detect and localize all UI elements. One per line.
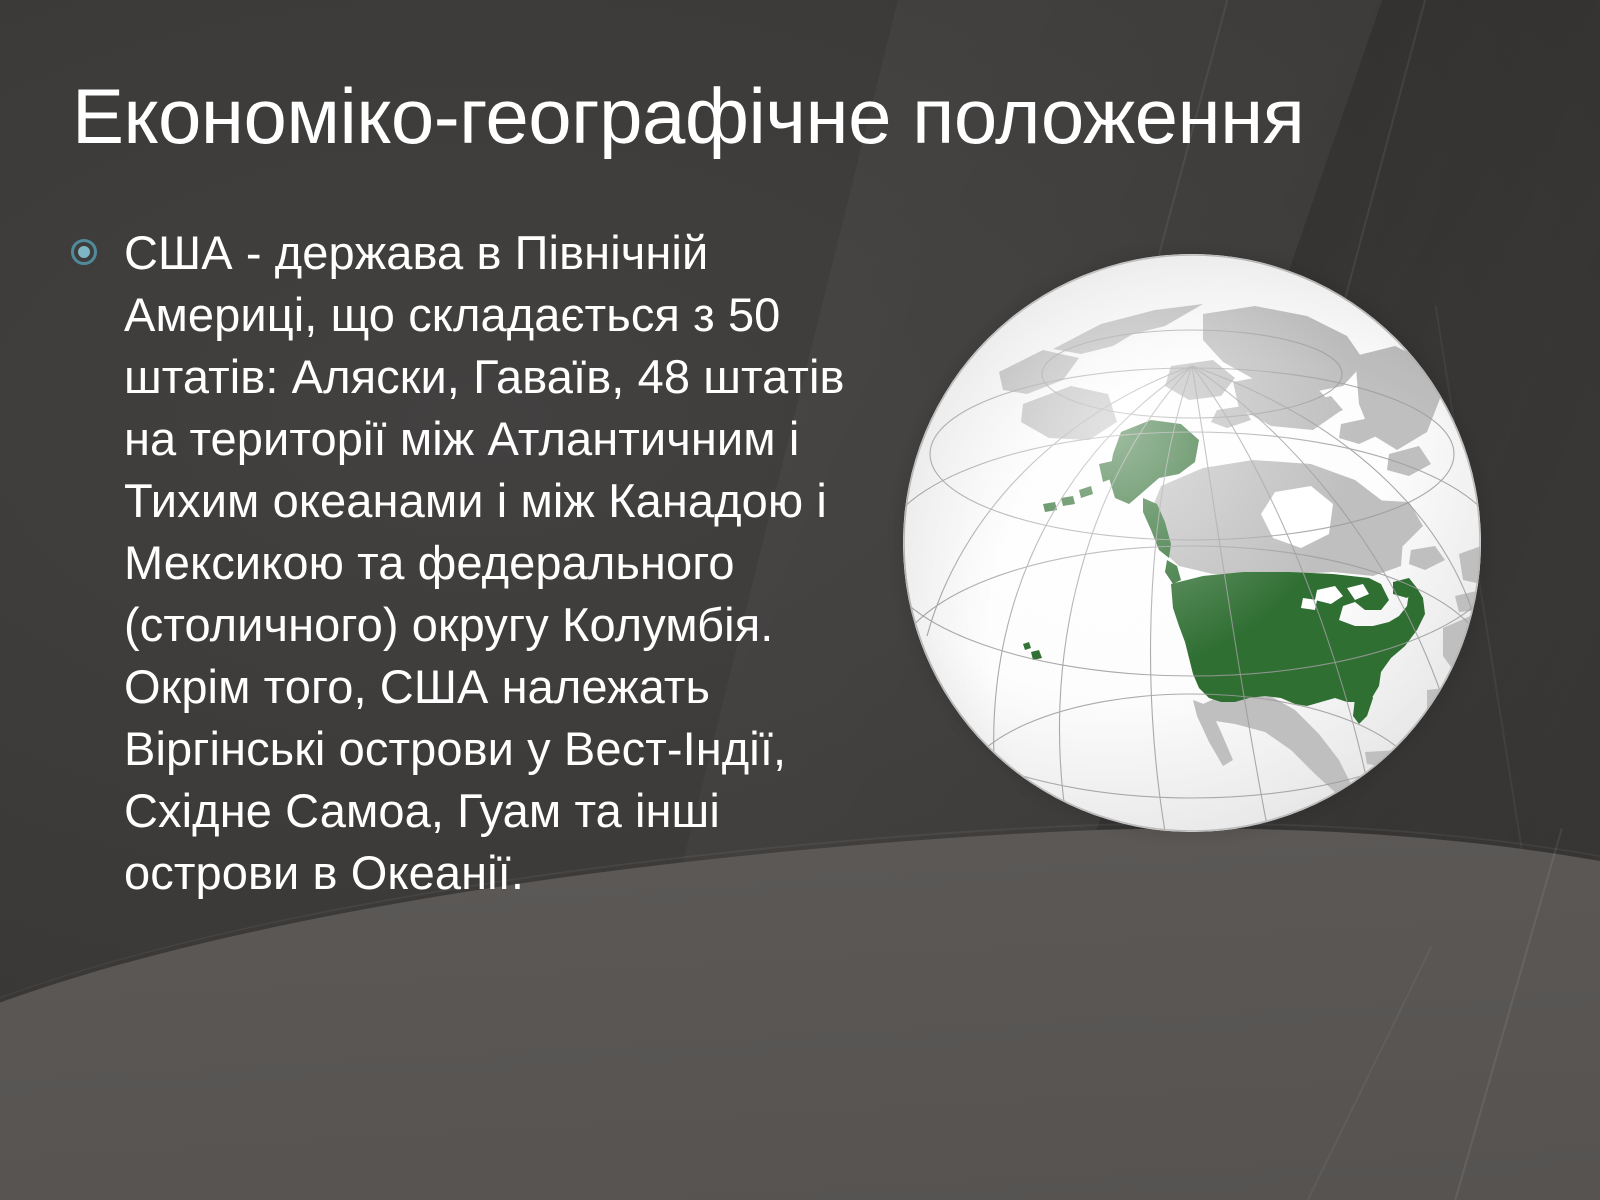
- target-bullet-icon: [68, 236, 102, 270]
- target-bullet-dot: [78, 246, 90, 258]
- globe-sphere: [903, 254, 1481, 832]
- bullet-text: США - держава в Північній Америці, що ск…: [124, 222, 898, 904]
- slide-canvas: Економіко-географічне положення США - де…: [0, 0, 1600, 1200]
- list-item: США - держава в Північній Америці, що ск…: [68, 222, 898, 904]
- globe-north-america: [903, 254, 1481, 832]
- page-title: Економіко-географічне положення: [72, 76, 1532, 158]
- content-placeholder: США - держава в Північній Америці, що ск…: [68, 222, 898, 904]
